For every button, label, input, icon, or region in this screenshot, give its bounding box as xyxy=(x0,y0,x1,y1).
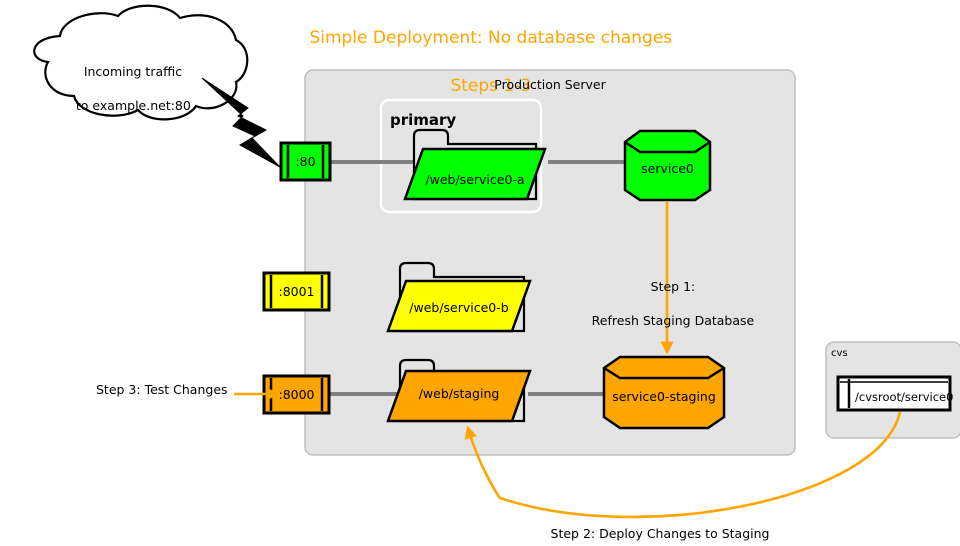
port-8000-label: :8000 xyxy=(264,387,329,402)
folder-web-staging-label: /web/staging xyxy=(388,386,530,401)
cloud-label-line1: Incoming traffic xyxy=(84,64,182,79)
primary-group-label: primary xyxy=(390,111,456,129)
cvs-repository-label: /cvsroot/service0 xyxy=(855,390,953,404)
step3-label: Step 3: Test Changes xyxy=(96,382,228,397)
cloud-label: Incoming traffic to example.net:80 xyxy=(60,46,190,131)
cvs-box-label: cvs xyxy=(831,348,848,359)
cloud-label-line2: to example.net:80 xyxy=(76,98,191,113)
step2-label: Step 2: Deploy Changes to Staging xyxy=(460,526,860,541)
folder-web-service0-a-label: /web/service0-a xyxy=(405,172,545,187)
step1-label-line1: Step 1: xyxy=(651,279,696,294)
database-service0-label: service0 xyxy=(625,161,710,176)
folder-web-service0-b-label: /web/service0-b xyxy=(388,300,530,315)
step1-label-line2: Refresh Staging Database xyxy=(592,313,755,328)
diagram-canvas: Simple Deployment: No database changes S… xyxy=(0,0,960,546)
database-service0-staging-label: service0-staging xyxy=(604,389,724,404)
page-title-line1: Simple Deployment: No database changes xyxy=(309,28,672,48)
step1-label: Step 1: Refresh Staging Database xyxy=(565,261,765,346)
production-server-label: Production Server xyxy=(305,77,795,92)
port-8001-label: :8001 xyxy=(264,284,329,299)
port-80-label: :80 xyxy=(281,154,330,169)
